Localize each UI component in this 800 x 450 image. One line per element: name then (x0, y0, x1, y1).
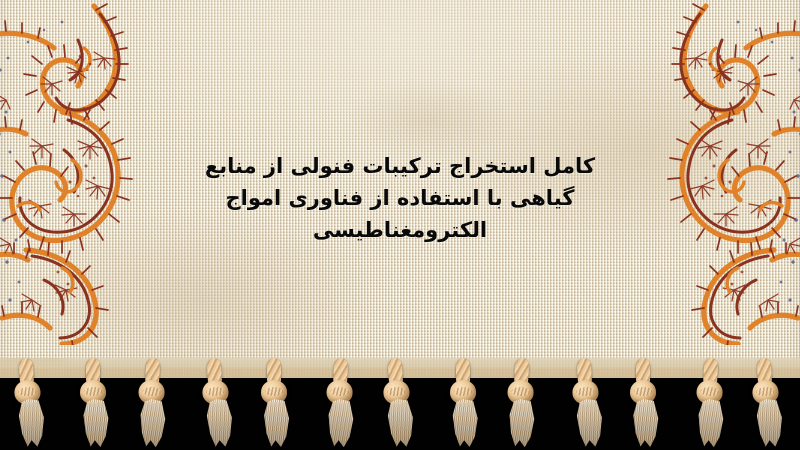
tassel-brush (629, 399, 659, 447)
tassel-brush (752, 398, 784, 448)
tassel (683, 355, 736, 450)
tassel (620, 356, 668, 450)
tassel-brush (449, 399, 479, 447)
tassel-brush (14, 398, 46, 448)
tassel-brush (504, 398, 536, 448)
slide-canvas: کامل استخراج ترکیبات فنولی از منابع گیاه… (0, 0, 800, 450)
knotted-tassel-fringe (0, 356, 800, 450)
tassel (560, 355, 613, 450)
slide-title: کامل استخراج ترکیبات فنولی از منابع گیاه… (180, 150, 620, 246)
tassel (440, 356, 488, 450)
tassel-brush (79, 399, 109, 447)
tassel (191, 355, 244, 450)
tassel (125, 355, 178, 450)
tassel-brush (135, 398, 167, 448)
tassel (314, 355, 367, 450)
tassel-brush (383, 398, 415, 448)
tassel (70, 356, 118, 450)
tassel-brush (692, 398, 724, 448)
tassel-brush (323, 398, 355, 448)
tassel-brush (202, 398, 234, 448)
tassel (2, 355, 55, 450)
tassel (741, 355, 794, 450)
tassel (251, 356, 299, 450)
tassel (495, 355, 548, 450)
tassel-brush (571, 398, 603, 448)
tassel (372, 355, 425, 450)
title-line-2: گیاهی با استفاده از فناوری امواج (180, 182, 620, 214)
tassel-brush (260, 399, 290, 447)
title-line-3: الکترومغناطیسی (180, 214, 620, 246)
title-line-1: کامل استخراج ترکیبات فنولی از منابع (180, 150, 620, 182)
